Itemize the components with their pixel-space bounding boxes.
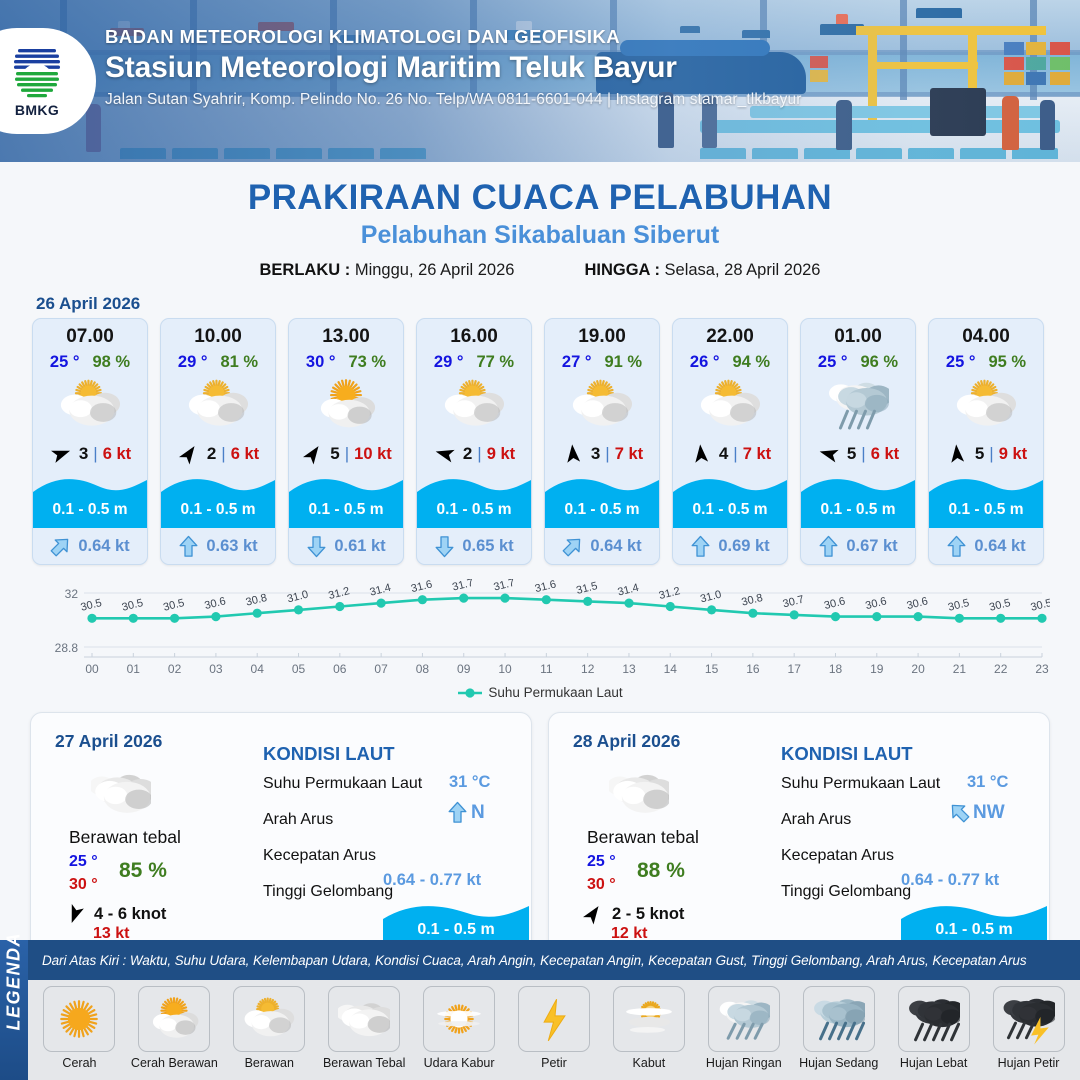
card-wave-block: 0.1 - 0.5 m: [801, 472, 915, 528]
berawan-icon: [187, 374, 249, 436]
card-wave-block: 0.1 - 0.5 m: [33, 472, 147, 528]
svg-text:30.6: 30.6: [906, 595, 930, 612]
card-wind-speed: 9 kt: [999, 445, 1027, 464]
current-direction-icon: [178, 535, 199, 558]
svg-text:17: 17: [788, 662, 802, 676]
svg-text:16: 16: [746, 662, 760, 676]
card-current-row: 0.61 kt: [289, 528, 403, 564]
daily-date: 27 April 2026: [55, 731, 162, 752]
card-humidity: 73 %: [348, 353, 386, 372]
legend-icon-box: [423, 986, 495, 1052]
card-weather-icon: [161, 374, 275, 436]
sea-conditions-title: KONDISI LAUT: [781, 743, 913, 765]
card-wave-block: 0.1 - 0.5 m: [673, 472, 787, 528]
wind-direction-icon: [945, 443, 969, 465]
current-direction-icon: [50, 535, 71, 558]
hourly-forecast-card[interactable]: 22.00 26 ° 94 % 4 | 7 kt 0.1 - 0.5 m: [672, 318, 788, 565]
petir-icon: [528, 993, 580, 1045]
card-wave-block: 0.1 - 0.5 m: [161, 472, 275, 528]
card-wave-height: 0.1 - 0.5 m: [161, 501, 275, 519]
card-weather-icon: [545, 374, 659, 436]
card-wind-row: 3 | 6 kt: [33, 436, 147, 472]
daily-wind-row: 4 - 6 knot: [63, 903, 166, 925]
daily-forecast-panel[interactable]: 27 April 2026 Berawan tebal 25 ° 30 ° 85…: [30, 712, 532, 957]
header-banner: BMKG BADAN METEOROLOGI KLIMATOLOGI DAN G…: [0, 0, 1080, 162]
hujan-lebat-icon: [908, 993, 960, 1045]
current-speed-value: 0.64 - 0.77 kt: [901, 871, 999, 890]
legend-item-label: Berawan: [245, 1056, 294, 1070]
hourly-date-label: 26 April 2026: [36, 294, 1080, 314]
svg-text:31.4: 31.4: [369, 582, 393, 599]
card-time: 10.00: [161, 326, 275, 348]
card-wind-separator: |: [989, 444, 993, 464]
card-wind-row: 5 | 9 kt: [929, 436, 1043, 472]
current-direction-value: NW: [973, 802, 1005, 824]
chart-legend: Suhu Permukaan Laut: [0, 685, 1080, 700]
legend-item-label: Kabut: [633, 1056, 666, 1070]
berawan-icon: [243, 993, 295, 1045]
card-weather-icon: [289, 374, 403, 436]
card-wave-block: 0.1 - 0.5 m: [289, 472, 403, 528]
daily-forecast-row: 27 April 2026 Berawan tebal 25 ° 30 ° 85…: [0, 712, 1080, 957]
wind-direction-icon: [689, 443, 713, 465]
card-wind-row: 4 | 7 kt: [673, 436, 787, 472]
svg-text:23: 23: [1035, 662, 1049, 676]
wind-direction-icon: [581, 903, 605, 925]
card-wind-direction: 5: [847, 444, 856, 464]
current-speed-label: Kecepatan Arus: [263, 847, 376, 865]
berlaku-label: BERLAKU :: [260, 261, 351, 279]
card-humidity: 95 %: [988, 353, 1026, 372]
wave-height-label: Tinggi Gelombang: [781, 883, 911, 901]
current-direction-icon: [447, 801, 468, 824]
sea-conditions-title: KONDISI LAUT: [263, 743, 395, 765]
hujan-ringan-icon: [827, 374, 889, 436]
legend-icon-box: [233, 986, 305, 1052]
hingga-group: HINGGA : Selasa, 28 April 2026: [584, 261, 820, 280]
wind-direction-icon: [301, 443, 325, 465]
card-time: 07.00: [33, 326, 147, 348]
svg-text:07: 07: [374, 662, 388, 676]
card-wind-direction: 2: [207, 444, 216, 464]
berawan-icon: [955, 374, 1017, 436]
card-wind-direction: 5: [330, 444, 339, 464]
svg-text:31.7: 31.7: [492, 579, 516, 594]
svg-text:31.2: 31.2: [658, 585, 682, 602]
daily-weather-icon: [609, 763, 669, 828]
current-direction-icon: [949, 801, 970, 824]
card-wave-height: 0.1 - 0.5 m: [801, 501, 915, 519]
card-wind-separator: |: [861, 444, 865, 464]
svg-text:08: 08: [416, 662, 430, 676]
card-humidity: 77 %: [476, 353, 514, 372]
card-wave-block: 0.1 - 0.5 m: [929, 472, 1043, 528]
svg-text:28.8: 28.8: [55, 641, 79, 655]
legend-vertical-label: LEGENDA: [4, 947, 25, 1031]
wave-shape-icon: [929, 472, 1043, 528]
daily-wind-speed: 4 - 6 knot: [94, 905, 166, 924]
card-current-speed: 0.61 kt: [334, 537, 385, 556]
current-direction-icon: [306, 535, 327, 558]
legend-item-label: Cerah Berawan: [131, 1056, 218, 1070]
svg-text:30.5: 30.5: [121, 597, 145, 614]
card-time: 19.00: [545, 326, 659, 348]
wind-direction-icon: [177, 443, 201, 465]
legend-item: Kabut: [603, 986, 694, 1070]
legend-item: Hujan Petir: [983, 986, 1074, 1070]
svg-text:30.5: 30.5: [947, 597, 971, 614]
legend-icon-box: [138, 986, 210, 1052]
berawan-tebal-icon: [338, 993, 390, 1045]
svg-text:04: 04: [251, 662, 265, 676]
sst-value: 31 °C: [449, 773, 490, 792]
card-time: 04.00: [929, 326, 1043, 348]
daily-wind-row: 2 - 5 knot: [581, 903, 684, 925]
wave-shape-icon: [801, 472, 915, 528]
wind-direction-icon: [63, 903, 87, 925]
svg-text:30.6: 30.6: [203, 595, 227, 612]
legend-icon-box: [328, 986, 400, 1052]
card-wind-direction: 4: [719, 444, 728, 464]
card-temperature: 25 °: [818, 353, 848, 372]
hujan-ringan-icon: [718, 993, 770, 1045]
card-wave-block: 0.1 - 0.5 m: [545, 472, 659, 528]
hourly-forecast-card[interactable]: 10.00 29 ° 81 % 2 | 6 kt 0.1 - 0.5 m: [160, 318, 276, 565]
legend-note-bar: Dari Atas Kiri : Waktu, Suhu Udara, Kele…: [28, 940, 1080, 980]
card-wind-row: 2 | 6 kt: [161, 436, 275, 472]
current-direction-label: Arah Arus: [781, 811, 851, 829]
daily-temp-max: 30 °: [587, 876, 616, 894]
hingga-label: HINGGA :: [584, 261, 659, 279]
station-address: Jalan Sutan Syahrir, Komp. Pelindo No. 2…: [105, 91, 801, 109]
card-weather-icon: [801, 374, 915, 436]
svg-text:30.5: 30.5: [79, 597, 103, 614]
legend-item-label: Udara Kabur: [424, 1056, 495, 1070]
legend-item: Hujan Sedang: [793, 986, 884, 1070]
legend-item-label: Hujan Lebat: [900, 1056, 967, 1070]
card-wind-speed: 6 kt: [231, 445, 259, 464]
daily-humidity: 88 %: [637, 859, 685, 883]
sst-label: Suhu Permukaan Laut: [263, 775, 422, 793]
legend-item-label: Hujan Petir: [998, 1056, 1060, 1070]
svg-text:10: 10: [498, 662, 512, 676]
legend-item: Cerah: [34, 986, 125, 1070]
wind-direction-icon: [433, 443, 457, 465]
card-current-speed: 0.64 kt: [974, 537, 1025, 556]
current-speed-label: Kecepatan Arus: [781, 847, 894, 865]
svg-text:31.7: 31.7: [451, 579, 475, 594]
page-title: PRAKIRAAN CUACA PELABUHAN: [0, 178, 1080, 218]
svg-text:30.8: 30.8: [740, 592, 764, 609]
chart-legend-label: Suhu Permukaan Laut: [488, 685, 622, 700]
svg-text:06: 06: [333, 662, 347, 676]
card-wind-separator: |: [477, 444, 481, 464]
card-current-speed: 0.64 kt: [78, 537, 129, 556]
wave-shape-icon: [289, 472, 403, 528]
card-wave-height: 0.1 - 0.5 m: [33, 501, 147, 519]
legend-item-label: Petir: [541, 1056, 567, 1070]
legend-item: Berawan Tebal: [319, 986, 410, 1070]
agency-name: BADAN METEOROLOGI KLIMATOLOGI DAN GEOFIS…: [105, 26, 801, 48]
station-name: Stasiun Meteorologi Maritim Teluk Bayur: [105, 51, 801, 85]
svg-text:30.5: 30.5: [1029, 597, 1050, 614]
card-temperature: 26 °: [690, 353, 720, 372]
card-wave-height: 0.1 - 0.5 m: [417, 501, 531, 519]
svg-text:31.2: 31.2: [327, 585, 351, 602]
card-wind-row: 5 | 6 kt: [801, 436, 915, 472]
berawan-icon: [443, 374, 505, 436]
card-current-row: 0.65 kt: [417, 528, 531, 564]
hujan-sedang-icon: [813, 993, 865, 1045]
cerah-icon: [53, 993, 105, 1045]
card-current-row: 0.64 kt: [545, 528, 659, 564]
legend-icon-row: Cerah Cerah Berawan Berawan Berawan Teba…: [28, 980, 1080, 1080]
validity-row: BERLAKU : Minggu, 26 April 2026 HINGGA :…: [0, 261, 1080, 280]
berawan-icon: [59, 374, 121, 436]
sst-chart-svg: 3228.830.50030.50130.50230.60330.80431.0…: [30, 579, 1050, 679]
svg-text:15: 15: [705, 662, 719, 676]
daily-condition: Berawan tebal: [587, 827, 699, 848]
wave-height-label: Tinggi Gelombang: [263, 883, 393, 901]
wave-shape-icon: [161, 472, 275, 528]
svg-text:03: 03: [209, 662, 223, 676]
daily-humidity: 85 %: [119, 859, 167, 883]
bmkg-emblem-icon: [8, 45, 66, 101]
card-weather-icon: [33, 374, 147, 436]
svg-text:12: 12: [581, 662, 595, 676]
card-wind-direction: 3: [591, 444, 600, 464]
daily-wave-value: 0.1 - 0.5 m: [383, 921, 529, 939]
svg-text:31.4: 31.4: [616, 582, 640, 599]
legend-icon-box: [898, 986, 970, 1052]
card-humidity: 94 %: [732, 353, 770, 372]
card-current-speed: 0.69 kt: [718, 537, 769, 556]
card-time: 13.00: [289, 326, 403, 348]
legend-icon-box: [43, 986, 115, 1052]
svg-text:13: 13: [622, 662, 636, 676]
card-wind-direction: 3: [79, 444, 88, 464]
svg-text:14: 14: [664, 662, 678, 676]
sst-value: 31 °C: [967, 773, 1008, 792]
card-wind-row: 5 | 10 kt: [289, 436, 403, 472]
header-text-block: BADAN METEOROLOGI KLIMATOLOGI DAN GEOFIS…: [105, 26, 801, 109]
legend-item-label: Hujan Sedang: [799, 1056, 878, 1070]
card-temperature: 25 °: [946, 353, 976, 372]
bmkg-logo-mark: [8, 45, 66, 101]
legend-item-label: Berawan Tebal: [323, 1056, 405, 1070]
legend-note-text: Dari Atas Kiri : Waktu, Suhu Udara, Kele…: [28, 953, 1027, 968]
daily-date: 28 April 2026: [573, 731, 680, 752]
current-direction-icon: [818, 535, 839, 558]
svg-text:21: 21: [953, 662, 967, 676]
current-direction-group: NW: [949, 801, 1005, 824]
svg-text:31.5: 31.5: [575, 580, 599, 597]
berawan-icon: [699, 374, 761, 436]
hingga-value: Selasa, 28 April 2026: [665, 261, 821, 279]
hourly-forecast-row: 07.00 25 ° 98 % 3 | 6 kt 0.1 - 0.5 m: [0, 318, 1080, 565]
daily-temp-max: 30 °: [69, 876, 98, 894]
card-current-row: 0.64 kt: [929, 528, 1043, 564]
svg-text:30.5: 30.5: [988, 597, 1012, 614]
svg-text:09: 09: [457, 662, 471, 676]
svg-text:30.7: 30.7: [782, 594, 806, 611]
card-wind-speed: 10 kt: [354, 445, 392, 464]
card-wind-separator: |: [345, 444, 349, 464]
svg-text:32: 32: [65, 587, 79, 601]
wind-direction-icon: [49, 443, 73, 465]
legend-footer: LEGENDA Dari Atas Kiri : Waktu, Suhu Uda…: [0, 940, 1080, 1080]
card-humidity: 91 %: [604, 353, 642, 372]
legend-side-strip: LEGENDA: [0, 940, 28, 1080]
card-time: 16.00: [417, 326, 531, 348]
svg-text:02: 02: [168, 662, 182, 676]
hourly-forecast-card[interactable]: 01.00 25 ° 96 % 5 | 6 kt: [800, 318, 916, 565]
daily-wave-value: 0.1 - 0.5 m: [901, 921, 1047, 939]
cerah-berawan-icon: [315, 374, 377, 436]
daily-temp-min: 25 °: [69, 853, 98, 871]
card-wind-separator: |: [605, 444, 609, 464]
wave-shape-icon: [417, 472, 531, 528]
svg-text:00: 00: [85, 662, 99, 676]
card-wind-speed: 9 kt: [487, 445, 515, 464]
current-direction-icon: [690, 535, 711, 558]
svg-text:30.8: 30.8: [245, 592, 269, 609]
cerah-berawan-icon: [148, 993, 200, 1045]
svg-text:19: 19: [870, 662, 884, 676]
hujan-petir-icon: [1003, 993, 1055, 1045]
daily-forecast-panel[interactable]: 28 April 2026 Berawan tebal 25 ° 30 ° 88…: [548, 712, 1050, 957]
hourly-forecast-card[interactable]: 04.00 25 ° 95 % 5 | 9 kt 0.1 - 0.5 m: [928, 318, 1044, 565]
card-current-speed: 0.63 kt: [206, 537, 257, 556]
card-temperature: 30 °: [306, 353, 336, 372]
legend-item: Petir: [509, 986, 600, 1070]
current-direction-icon: [562, 535, 583, 558]
daily-wind-speed: 2 - 5 knot: [612, 905, 684, 924]
card-humidity: 96 %: [860, 353, 898, 372]
legend-item: Hujan Ringan: [698, 986, 789, 1070]
card-time: 22.00: [673, 326, 787, 348]
svg-text:30.6: 30.6: [823, 595, 847, 612]
berlaku-group: BERLAKU : Minggu, 26 April 2026: [260, 261, 515, 280]
card-current-speed: 0.65 kt: [462, 537, 513, 556]
card-temperature: 25 °: [50, 353, 80, 372]
card-current-speed: 0.67 kt: [846, 537, 897, 556]
legend-item: Hujan Lebat: [888, 986, 979, 1070]
svg-text:31.0: 31.0: [286, 589, 310, 606]
svg-text:20: 20: [911, 662, 925, 676]
card-humidity: 98 %: [92, 353, 130, 372]
card-humidity: 81 %: [220, 353, 258, 372]
card-wave-height: 0.1 - 0.5 m: [289, 501, 403, 519]
card-temperature: 27 °: [562, 353, 592, 372]
current-direction-value: N: [471, 802, 485, 824]
card-wind-row: 3 | 7 kt: [545, 436, 659, 472]
legend-item-label: Cerah: [62, 1056, 96, 1070]
berawan-tebal-icon: [91, 763, 151, 823]
wind-direction-icon: [561, 443, 585, 465]
card-wind-speed: 6 kt: [103, 445, 131, 464]
sst-label: Suhu Permukaan Laut: [781, 775, 940, 793]
daily-condition: Berawan tebal: [69, 827, 181, 848]
card-wind-separator: |: [221, 444, 225, 464]
card-wave-height: 0.1 - 0.5 m: [929, 501, 1043, 519]
card-time: 01.00: [801, 326, 915, 348]
svg-text:18: 18: [829, 662, 843, 676]
daily-temp-min: 25 °: [587, 853, 616, 871]
card-weather-icon: [417, 374, 531, 436]
card-current-row: 0.67 kt: [801, 528, 915, 564]
svg-text:11: 11: [540, 662, 553, 676]
berlaku-value: Minggu, 26 April 2026: [355, 261, 515, 279]
legend-icon-box: [518, 986, 590, 1052]
card-wind-separator: |: [93, 444, 97, 464]
chart-legend-marker-icon: [457, 687, 483, 699]
card-temperature: 29 °: [434, 353, 464, 372]
legend-item: Udara Kabur: [414, 986, 505, 1070]
current-direction-label: Arah Arus: [263, 811, 333, 829]
page-subtitle: Pelabuhan Sikabaluan Siberut: [0, 221, 1080, 250]
wind-direction-icon: [817, 443, 841, 465]
legend-item: Berawan: [224, 986, 315, 1070]
current-direction-icon: [434, 535, 455, 558]
legend-item: Cerah Berawan: [129, 986, 220, 1070]
card-current-row: 0.64 kt: [33, 528, 147, 564]
wave-shape-icon: [545, 472, 659, 528]
wave-shape-icon: [673, 472, 787, 528]
hourly-forecast-card[interactable]: 13.00 30 ° 73 % 5 | 10 kt 0.1 - 0.5 m: [288, 318, 404, 565]
card-wave-height: 0.1 - 0.5 m: [673, 501, 787, 519]
hourly-forecast-card[interactable]: 16.00 29 ° 77 % 2 | 9 kt 0.1 - 0.5 m: [416, 318, 532, 565]
card-wind-direction: 5: [975, 444, 984, 464]
card-weather-icon: [673, 374, 787, 436]
card-temperature: 29 °: [178, 353, 208, 372]
daily-weather-icon: [91, 763, 151, 828]
card-current-row: 0.63 kt: [161, 528, 275, 564]
svg-text:30.5: 30.5: [162, 597, 186, 614]
card-wave-height: 0.1 - 0.5 m: [545, 501, 659, 519]
berawan-icon: [571, 374, 633, 436]
svg-text:22: 22: [994, 662, 1008, 676]
legend-icon-box: [993, 986, 1065, 1052]
card-wind-speed: 7 kt: [743, 445, 771, 464]
udara-kabur-icon: [433, 993, 485, 1045]
card-current-speed: 0.64 kt: [590, 537, 641, 556]
legend-icon-box: [803, 986, 875, 1052]
bmkg-logo-text: BMKG: [15, 102, 59, 118]
current-speed-value: 0.64 - 0.77 kt: [383, 871, 481, 890]
current-direction-group: N: [447, 801, 485, 824]
hourly-forecast-card[interactable]: 19.00 27 ° 91 % 3 | 7 kt 0.1 - 0.5 m: [544, 318, 660, 565]
card-wind-speed: 7 kt: [615, 445, 643, 464]
card-weather-icon: [929, 374, 1043, 436]
berawan-tebal-icon: [609, 763, 669, 823]
wave-shape-icon: [33, 472, 147, 528]
kabut-icon: [623, 993, 675, 1045]
current-direction-icon: [946, 535, 967, 558]
legend-icon-box: [613, 986, 685, 1052]
svg-text:05: 05: [292, 662, 306, 676]
card-wave-block: 0.1 - 0.5 m: [417, 472, 531, 528]
card-wind-speed: 6 kt: [871, 445, 899, 464]
svg-text:30.6: 30.6: [864, 595, 888, 612]
sst-chart: 3228.830.50030.50130.50230.60330.80431.0…: [30, 579, 1050, 679]
card-wind-separator: |: [733, 444, 737, 464]
card-current-row: 0.69 kt: [673, 528, 787, 564]
legend-item-label: Hujan Ringan: [706, 1056, 782, 1070]
card-wind-row: 2 | 9 kt: [417, 436, 531, 472]
card-wind-direction: 2: [463, 444, 472, 464]
hourly-forecast-card[interactable]: 07.00 25 ° 98 % 3 | 6 kt 0.1 - 0.5 m: [32, 318, 148, 565]
